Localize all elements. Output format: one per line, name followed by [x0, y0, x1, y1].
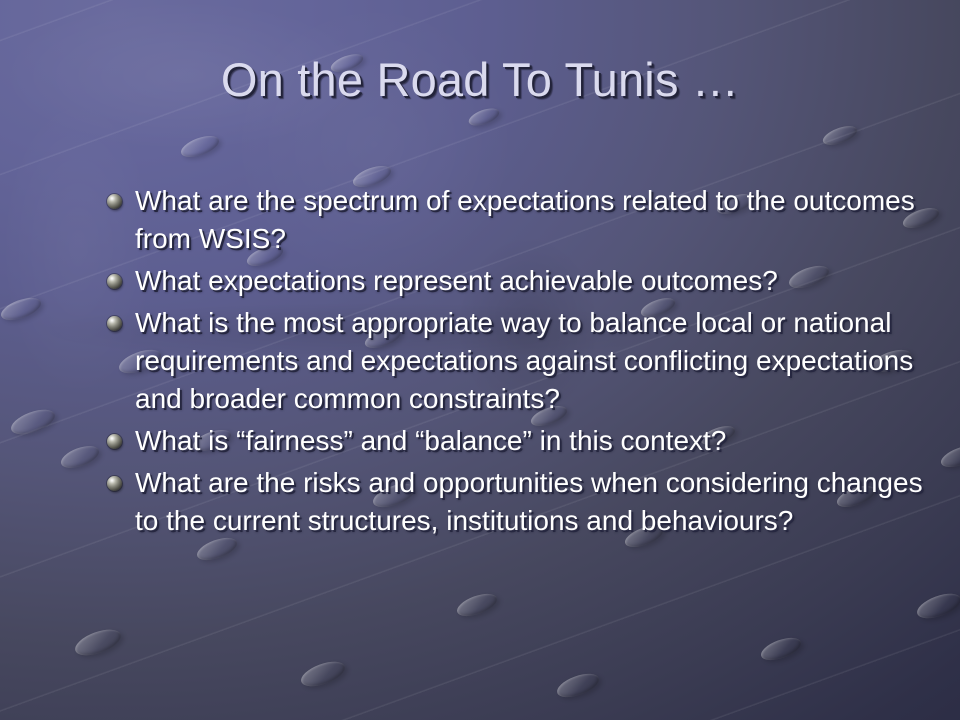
bullet-text: What is the most appropriate way to bala… — [135, 304, 930, 418]
bead-decoration — [8, 405, 58, 440]
bead-decoration — [938, 442, 960, 472]
bead-decoration — [72, 624, 124, 660]
bead-decoration — [0, 293, 44, 324]
bead-decoration — [454, 589, 500, 620]
bead-decoration — [821, 122, 860, 148]
bead-decoration — [554, 669, 602, 702]
bullet-text: What expectations represent achievable o… — [135, 262, 930, 300]
sphere-bullet-icon — [107, 434, 122, 449]
bullet-list-item: What is the most appropriate way to bala… — [100, 304, 930, 418]
bead-decoration — [58, 442, 102, 473]
sphere-bullet-icon — [107, 316, 122, 331]
bullet-list-item: What expectations represent achievable o… — [100, 262, 930, 300]
bead-decoration — [467, 105, 502, 129]
bead-decoration — [914, 589, 960, 624]
bead-decoration — [298, 657, 348, 692]
bullet-list-item: What are the risks and opportunities whe… — [100, 464, 930, 540]
slide-title-placeholder: On the Road To Tunis … — [60, 52, 900, 107]
bead-decoration — [178, 132, 221, 162]
bullet-list-item: What is “fairness” and “balance” in this… — [100, 422, 930, 460]
bullet-text: What are the risks and opportunities whe… — [135, 464, 930, 540]
bullet-text: What is “fairness” and “balance” in this… — [135, 422, 930, 460]
presentation-slide: On the Road To Tunis … What are the spec… — [0, 0, 960, 720]
bead-decoration — [758, 633, 804, 664]
slide-body-placeholder: What are the spectrum of expectations re… — [100, 182, 930, 544]
sphere-bullet-icon — [107, 194, 122, 209]
bullet-text: What are the spectrum of expectations re… — [135, 182, 930, 258]
bullet-list-item: What are the spectrum of expectations re… — [100, 182, 930, 258]
sphere-bullet-icon — [107, 274, 122, 289]
sphere-bullet-icon — [107, 476, 122, 491]
slide-title: On the Road To Tunis … — [221, 52, 739, 107]
